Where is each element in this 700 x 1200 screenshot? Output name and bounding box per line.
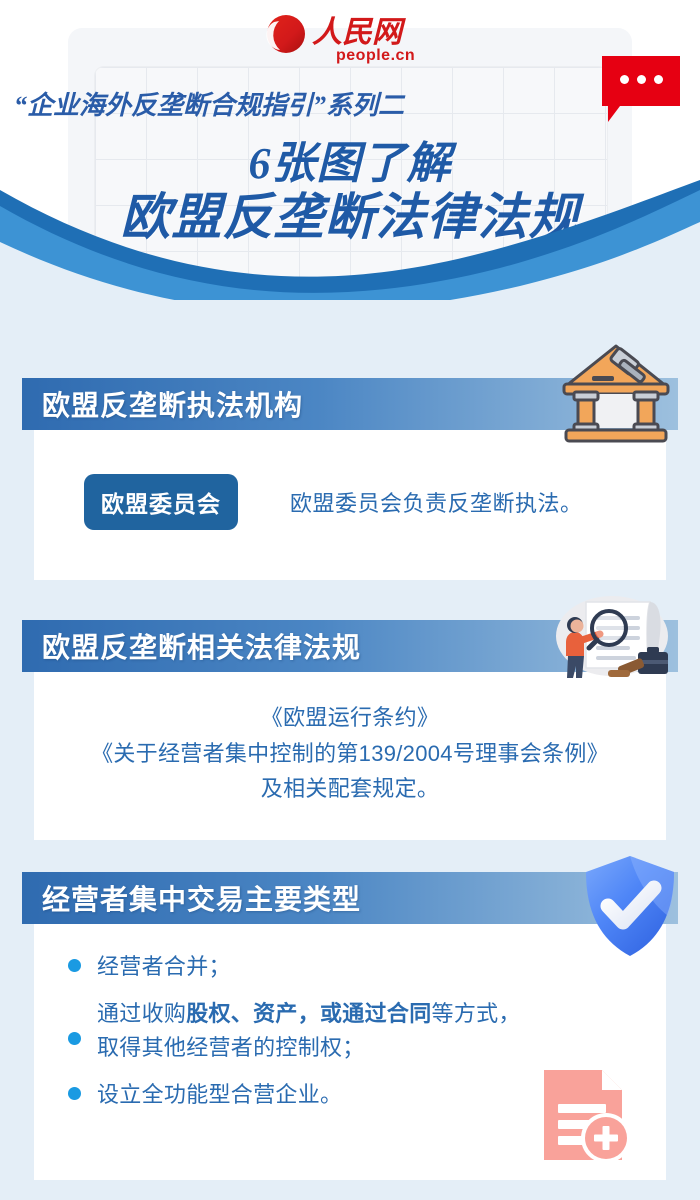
section-3-title: 经营者集中交易主要类型 — [42, 878, 361, 918]
list-item-text: 通过收购股权、资产，或通过合同等方式， 取得其他经营者的控制权； — [97, 997, 521, 1064]
section-2-body: 《欧盟运行条约》 《关于经营者集中控制的第139/2004号理事会条例》 及相关… — [34, 672, 666, 840]
list-item-text-bold: 股权、资产，或通过合同 — [186, 1001, 431, 1026]
section-2-title: 欧盟反垄断相关法律法规 — [42, 626, 361, 666]
eu-commission-badge[interactable]: 欧盟委员会 — [84, 474, 238, 530]
list-item: 经营者合并； — [68, 950, 666, 983]
svg-text:人民网: 人民网 — [312, 16, 406, 49]
organization-row: 欧盟委员会 欧盟委员会负责反垄断执法。 — [84, 474, 583, 530]
svg-text:people.cn: people.cn — [336, 47, 415, 64]
list-item: 通过收购股权、资产，或通过合同等方式， 取得其他经营者的控制权； — [68, 997, 666, 1064]
speech-bubble-icon — [602, 56, 680, 106]
list-item: 设立全功能型合营企业。 — [68, 1078, 666, 1111]
list-item-text-plain-b: 等方式， — [432, 1001, 521, 1026]
section-1-body: 欧盟委员会 欧盟委员会负责反垄断执法。 — [34, 430, 666, 580]
laws-list: 《欧盟运行条约》 《关于经营者集中控制的第139/2004号理事会条例》 及相关… — [34, 672, 666, 807]
section-1-title: 欧盟反垄断执法机构 — [42, 384, 303, 424]
bullet-dot-icon — [68, 1032, 81, 1045]
speech-bubble-dots — [602, 75, 680, 84]
law-item: 《关于经营者集中控制的第139/2004号理事会条例》 — [34, 736, 666, 772]
series-kicker: “企业海外反垄断合规指引”系列二 — [14, 85, 404, 122]
section-relevant-laws: 欧盟反垄断相关法律法规 《欧盟运行条约》 《关于经营者集中控制的第139/200… — [22, 620, 678, 840]
list-item-text-line-2: 取得其他经营者的控制权； — [97, 1035, 365, 1060]
header-wave-decoration — [0, 180, 700, 300]
courthouse-gavel-icon — [560, 340, 672, 449]
bullet-dot-icon — [68, 959, 81, 972]
people-cn-logo-mark: 人民网 people.cn — [262, 12, 442, 64]
concentration-types-list: 经营者合并； 通过收购股权、资产，或通过合同等方式， 取得其他经营者的控制权； … — [34, 924, 666, 1112]
people-cn-logo[interactable]: 人民网 people.cn — [262, 12, 442, 64]
list-item-text-plain-a: 通过收购 — [97, 1001, 186, 1026]
speech-bubble-tail — [608, 106, 634, 122]
header-banner: 人民网 people.cn “企业海外反垄断合规指引”系列二 6张图了解 欧盟反… — [0, 0, 700, 300]
law-item: 《欧盟运行条约》 — [34, 700, 666, 736]
list-item-text: 设立全功能型合营企业。 — [97, 1078, 342, 1111]
bullet-dot-icon — [68, 1087, 81, 1100]
document-magnifier-icon — [546, 592, 670, 687]
section-3-body: 经营者合并； 通过收购股权、资产，或通过合同等方式， 取得其他经营者的控制权； … — [34, 924, 666, 1180]
section-concentration-types: 经营者集中交易主要类型 — [22, 872, 678, 1180]
law-item: 及相关配套规定。 — [34, 771, 666, 807]
organization-description: 欧盟委员会负责反垄断执法。 — [290, 486, 583, 518]
list-item-text: 经营者合并； — [97, 950, 231, 983]
shield-check-icon — [578, 850, 682, 967]
section-enforcement-authority: 欧盟反垄断执法机构 欧盟委员会 欧盟委员会负责反垄断执法。 — [22, 378, 678, 580]
